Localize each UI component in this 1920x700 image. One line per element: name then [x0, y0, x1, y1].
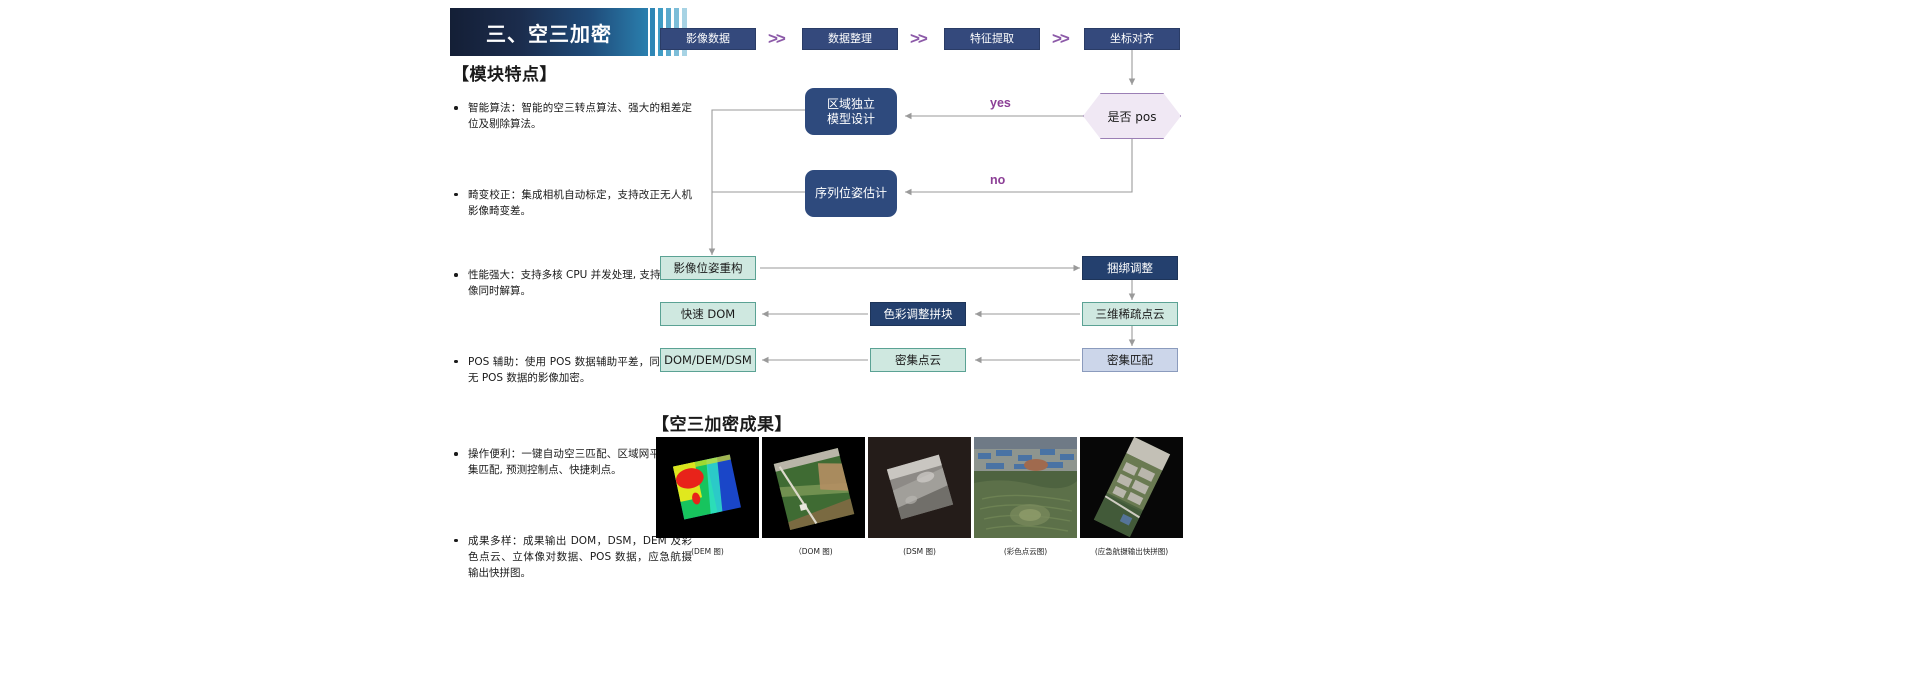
- result-item-dem[interactable]: (DEM 图): [656, 437, 759, 557]
- thumbnail-dom-image[interactable]: [762, 437, 865, 538]
- flow-node-region-model[interactable]: 区域独立 模型设计: [805, 88, 897, 135]
- result-caption: （DOM 图): [762, 546, 865, 557]
- flow-node-feature-extract[interactable]: 特征提取: [944, 28, 1040, 50]
- flow-node-image-data[interactable]: 影像数据: [660, 28, 756, 50]
- flow-node-bundle-adjust[interactable]: 捆绑调整: [1082, 256, 1178, 280]
- flow-node-dense-match[interactable]: 密集匹配: [1082, 348, 1178, 372]
- thumbnail-dsm-image[interactable]: [868, 437, 971, 538]
- result-item-dsm[interactable]: (DSM 图): [868, 437, 971, 557]
- result-caption: (彩色点云图): [974, 546, 1077, 557]
- result-item-pointcloud[interactable]: (彩色点云图): [974, 437, 1077, 557]
- flow-decision-label: 是否 pos: [1083, 93, 1181, 139]
- flow-node-coord-align[interactable]: 坐标对齐: [1084, 28, 1180, 50]
- flow-node-sparse-cloud[interactable]: 三维稀疏点云: [1082, 302, 1178, 326]
- thumbnail-pointcloud-image[interactable]: [974, 437, 1077, 538]
- flow-node-dom-dem-dsm[interactable]: DOM/DEM/DSM: [660, 348, 756, 372]
- results-thumbnail-strip: (DEM 图) （DOM 图): [656, 437, 1183, 557]
- result-item-dom[interactable]: （DOM 图): [762, 437, 865, 557]
- chevron-separator-3: >>: [1052, 29, 1068, 49]
- result-caption: (DEM 图): [656, 546, 759, 557]
- page-title: 三、空三加密: [450, 8, 648, 56]
- flow-node-fast-dom[interactable]: 快速 DOM: [660, 302, 756, 326]
- result-caption: (应急航摄输出快拼图): [1080, 546, 1183, 557]
- slide-page: 三、空三加密 【模块特点】 智能算法：智能的空三转点算法、强大的粗差定位及剔除算…: [0, 0, 1920, 700]
- edge-label-yes: yes: [990, 96, 1011, 110]
- chevron-separator-1: >>: [768, 29, 784, 49]
- workflow-diagram: 影像数据 >> 数据整理 >> 特征提取 >> 坐标对齐 是否 pos yes …: [650, 0, 1210, 400]
- title-banner-background: 三、空三加密: [450, 8, 648, 56]
- flow-node-pose-reconstruct[interactable]: 影像位姿重构: [660, 256, 756, 280]
- features-heading: 【模块特点】: [452, 60, 557, 85]
- flow-decision-has-pos[interactable]: 是否 pos: [1083, 93, 1181, 139]
- flow-node-dense-cloud[interactable]: 密集点云: [870, 348, 966, 372]
- chevron-separator-2: >>: [910, 29, 926, 49]
- edge-label-no: no: [990, 173, 1005, 187]
- result-item-quickmosaic[interactable]: (应急航摄输出快拼图): [1080, 437, 1183, 557]
- flow-node-data-organize[interactable]: 数据整理: [802, 28, 898, 50]
- result-caption: (DSM 图): [868, 546, 971, 557]
- thumbnail-quickmosaic-image[interactable]: [1080, 437, 1183, 538]
- flow-node-color-blend[interactable]: 色彩调整拼块: [870, 302, 966, 326]
- workflow-connectors: [650, 0, 1210, 400]
- flow-node-pose-estimate[interactable]: 序列位姿估计: [805, 170, 897, 217]
- results-heading: 【空三加密成果】: [652, 410, 792, 435]
- thumbnail-dem-image[interactable]: [656, 437, 759, 538]
